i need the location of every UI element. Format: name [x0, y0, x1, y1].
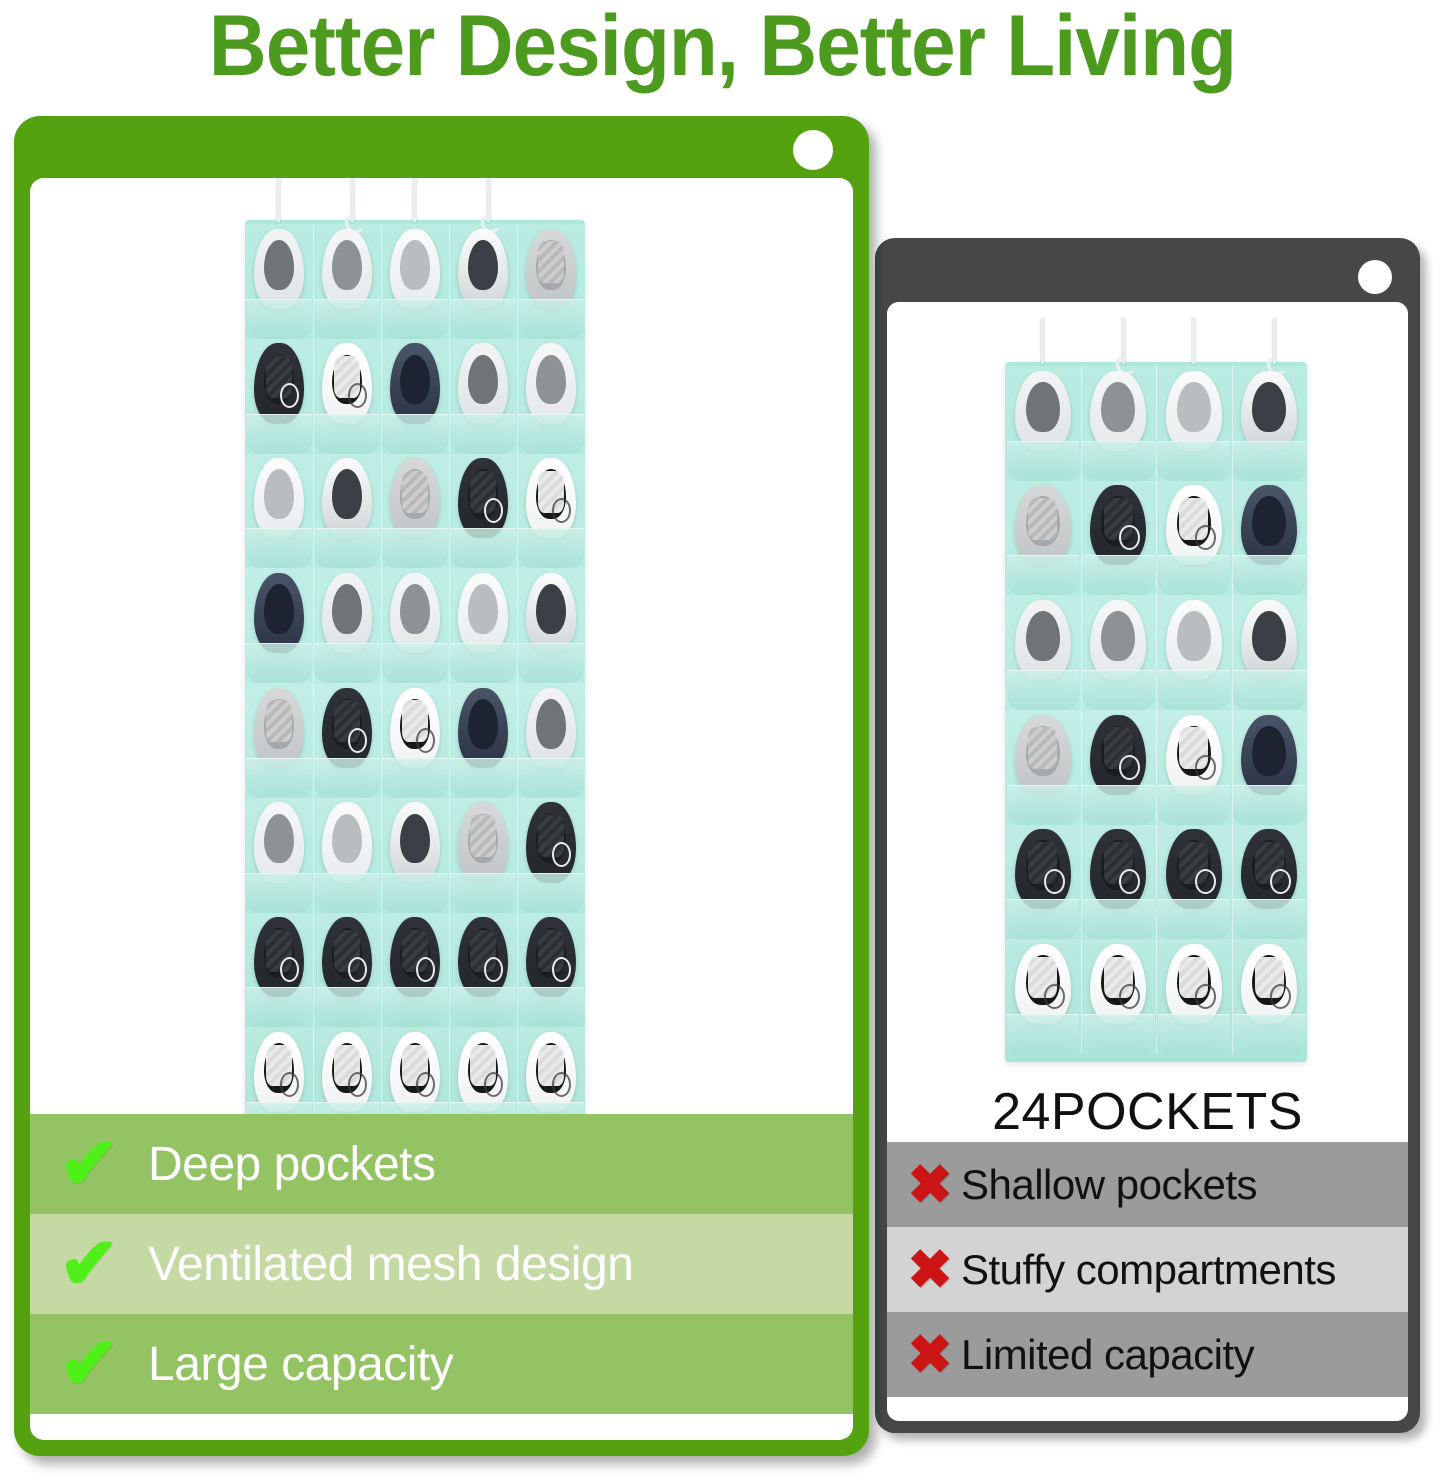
pocket-lip [518, 987, 583, 1027]
feature-row-limited-capacity: ✖ Limited capacity [887, 1312, 1408, 1397]
shoe-graphic [1015, 829, 1071, 909]
organizer-pocket [381, 224, 450, 339]
pocket-lip [518, 528, 583, 568]
shoe-graphic [458, 802, 508, 882]
organizer-pocket [1005, 481, 1082, 596]
pocket-lip [1233, 670, 1306, 710]
cartoon-face-decal-icon [1119, 869, 1140, 894]
pocket-lip [246, 528, 311, 568]
shoe-graphic [390, 343, 440, 423]
cartoon-face-decal-icon [1119, 525, 1140, 550]
shoe-graphic [1166, 371, 1222, 451]
slipper-sole-texture [1028, 498, 1057, 540]
feature-label: Large capacity [148, 1337, 453, 1392]
hanging-hook-icon [1192, 318, 1195, 364]
pocket-lip [246, 414, 311, 454]
pocket-lip [1082, 441, 1155, 481]
featured-product-card: 40 POCKETS ✔ Deep pockets ✔ Ventilated m… [14, 116, 869, 1456]
cartoon-face-decal-icon [1044, 984, 1065, 1009]
organizer-pocket [245, 798, 314, 913]
shoe-graphic [1090, 829, 1146, 909]
organizer-pocket [1081, 710, 1158, 825]
featured-card-body: 40 POCKETS ✔ Deep pockets ✔ Ventilated m… [30, 178, 853, 1440]
organizer-pocket [517, 913, 585, 1028]
organizer-pocket [1232, 939, 1308, 1054]
cartoon-face-decal-icon [552, 1072, 571, 1097]
pocket-lip [314, 987, 379, 1027]
pocket-lip [1007, 555, 1080, 595]
competitor-card-body: 24POCKETS ✖ Shallow pockets ✖ Stuffy com… [887, 302, 1408, 1421]
pocket-lip [382, 299, 447, 339]
pocket-lip [246, 299, 311, 339]
feature-label: Stuffy compartments [961, 1246, 1336, 1294]
shoe-graphic [526, 917, 576, 997]
cartoon-face-decal-icon [1044, 869, 1065, 894]
pocket-lip [382, 758, 447, 798]
organizer-pocket [1005, 366, 1082, 481]
shoe-graphic [322, 688, 372, 768]
shoe-collar [332, 469, 362, 519]
shoe-graphic [390, 1032, 440, 1112]
pocket-lip [382, 643, 447, 683]
shoe-graphic [254, 573, 304, 653]
competitor-feature-list: ✖ Shallow pockets ✖ Stuffy compartments … [887, 1142, 1408, 1397]
pocket-lip [518, 758, 583, 798]
feature-row-ventilated-mesh: ✔ Ventilated mesh design [30, 1214, 853, 1314]
slipper-sole-texture [1028, 727, 1057, 769]
competitor-pocket-count: 24POCKETS [887, 1082, 1408, 1144]
pocket-lip [518, 643, 583, 683]
pocket-lip [382, 528, 447, 568]
organizer-pocket [449, 224, 518, 339]
pocket-lip [1007, 1014, 1080, 1054]
shoe-collar [1252, 726, 1286, 776]
cartoon-face-decal-icon [348, 383, 367, 408]
shoe-graphic [254, 802, 304, 882]
pocket-lip [246, 643, 311, 683]
cross-icon: ✖ [893, 1243, 967, 1297]
cartoon-face-decal-icon [1195, 525, 1216, 550]
pocket-lip [246, 758, 311, 798]
organizer-pocket [1005, 710, 1082, 825]
cartoon-face-decal-icon [348, 1072, 367, 1097]
slipper-sole-texture [266, 700, 292, 742]
pocket-lip [314, 873, 379, 913]
shoe-collar [536, 699, 566, 749]
shoe-graphic [1241, 715, 1297, 795]
organizer-pocket [1232, 595, 1308, 710]
shoe-collar [332, 240, 362, 290]
shoe-collar [400, 355, 430, 405]
shoe-collar [332, 584, 362, 634]
shoe-graphic [254, 1032, 304, 1112]
organizer-pocket [449, 339, 518, 454]
shoe-graphic [458, 229, 508, 309]
cartoon-face-decal-icon [1195, 869, 1216, 894]
organizer-pocket [1232, 366, 1308, 481]
organizer-pocket [381, 913, 450, 1028]
shoe-graphic [1090, 944, 1146, 1024]
pocket-lip [1158, 1014, 1231, 1054]
shoe-graphic [322, 1032, 372, 1112]
check-icon: ✔ [30, 1128, 148, 1200]
cartoon-face-decal-icon [280, 383, 299, 408]
cartoon-face-decal-icon [1119, 984, 1140, 1009]
card-hole-icon [1358, 260, 1392, 294]
organizer-pocket [381, 568, 450, 683]
shoe-graphic [1166, 944, 1222, 1024]
pocket-lip [382, 414, 447, 454]
shoe-graphic [1015, 715, 1071, 795]
pocket-lip [518, 873, 583, 913]
organizer-pocket [313, 683, 382, 798]
organizer-pocket [245, 683, 314, 798]
shoe-collar [264, 469, 294, 519]
pocket-lip [450, 758, 515, 798]
pocket-lip [1082, 899, 1155, 939]
shoe-graphic [1166, 600, 1222, 680]
organizer-pocket [449, 913, 518, 1028]
pocket-lip [1082, 555, 1155, 595]
shoe-graphic [1241, 829, 1297, 909]
pocket-lip [1007, 899, 1080, 939]
shoe-graphic [1090, 371, 1146, 451]
organizer-pocket [245, 568, 314, 683]
organizer-pocket [313, 224, 382, 339]
cartoon-face-decal-icon [484, 498, 503, 523]
shoe-collar [332, 814, 362, 864]
pocket-lip [382, 987, 447, 1027]
shoe-graphic [526, 458, 576, 538]
pocket-lip [1158, 785, 1231, 825]
pocket-lip [518, 299, 583, 339]
shoe-graphic [526, 229, 576, 309]
pocket-lip [518, 414, 583, 454]
shoe-graphic [1241, 485, 1297, 565]
organizer-pocket [313, 454, 382, 569]
check-icon: ✔ [30, 1228, 148, 1300]
pocket-lip [1007, 785, 1080, 825]
shoe-graphic [390, 688, 440, 768]
cartoon-face-decal-icon [416, 728, 435, 753]
shoe-collar [264, 584, 294, 634]
shoe-graphic [1015, 485, 1071, 565]
organizer-pocket [381, 454, 450, 569]
pocket-lip [1007, 441, 1080, 481]
slipper-sole-texture [470, 815, 496, 857]
pocket-lip [1082, 670, 1155, 710]
cross-icon: ✖ [893, 1328, 967, 1382]
pocket-lip [314, 299, 379, 339]
feature-row-deep-pockets: ✔ Deep pockets [30, 1114, 853, 1214]
pocket-lip [450, 414, 515, 454]
shoe-graphic [1015, 600, 1071, 680]
shoe-graphic [1090, 715, 1146, 795]
organizer-pocket [1156, 595, 1233, 710]
card-hole-icon [793, 130, 833, 170]
shoe-collar [400, 814, 430, 864]
shoe-collar [264, 240, 294, 290]
feature-row-stuffy-compartments: ✖ Stuffy compartments [887, 1227, 1408, 1312]
shoe-collar [1252, 496, 1286, 546]
pocket-lip [314, 414, 379, 454]
slipper-sole-texture [402, 471, 428, 513]
shoe-graphic [322, 343, 372, 423]
shoe-graphic [390, 802, 440, 882]
shoe-graphic [322, 229, 372, 309]
organizer-pocket [1081, 595, 1158, 710]
shoe-collar [468, 699, 498, 749]
organizer-pocket [517, 568, 585, 683]
shoe-graphic [458, 688, 508, 768]
organizer-pocket [1005, 939, 1082, 1054]
pocket-lip [450, 299, 515, 339]
shoe-graphic [458, 573, 508, 653]
organizer-pocket [517, 683, 585, 798]
organizer-pocket [313, 568, 382, 683]
organizer-pocket [1081, 939, 1158, 1054]
organizer-pocket [517, 454, 585, 569]
shoe-collar [468, 355, 498, 405]
hanging-hook-icon [1041, 318, 1044, 364]
organizer-pocket [381, 683, 450, 798]
organizer-pocket [1232, 825, 1308, 940]
shoe-organizer-24 [1005, 362, 1307, 1062]
competitor-product-image [887, 302, 1408, 1107]
shoe-collar [536, 584, 566, 634]
organizer-pocket [517, 224, 585, 339]
pocket-lip [382, 873, 447, 913]
hanging-hook-icon [413, 178, 416, 222]
pocket-lip [1233, 555, 1306, 595]
slipper-sole-texture [538, 241, 564, 283]
shoe-graphic [526, 802, 576, 882]
pocket-lip [314, 758, 379, 798]
featured-feature-list: ✔ Deep pockets ✔ Ventilated mesh design … [30, 1114, 853, 1414]
shoe-collar [1026, 611, 1060, 661]
organizer-pocket [1156, 939, 1233, 1054]
organizer-pocket [381, 798, 450, 913]
shoe-graphic [254, 458, 304, 538]
shoe-graphic [254, 343, 304, 423]
shoe-collar [1101, 611, 1135, 661]
shoe-graphic [1166, 829, 1222, 909]
shoe-collar [1252, 382, 1286, 432]
shoe-collar [1101, 382, 1135, 432]
organizer-pocket [381, 339, 450, 454]
pocket-lip [314, 643, 379, 683]
cartoon-face-decal-icon [1119, 755, 1140, 780]
organizer-pocket [1156, 366, 1233, 481]
pocket-lip [1233, 1014, 1306, 1054]
shoe-graphic [390, 573, 440, 653]
feature-label: Limited capacity [961, 1331, 1254, 1379]
pocket-lip [450, 643, 515, 683]
shoe-graphic [390, 917, 440, 997]
cartoon-face-decal-icon [1270, 869, 1291, 894]
feature-label: Shallow pockets [961, 1161, 1257, 1209]
shoe-graphic [458, 343, 508, 423]
competitor-card: 24POCKETS ✖ Shallow pockets ✖ Stuffy com… [875, 238, 1420, 1433]
pocket-lip [1233, 899, 1306, 939]
shoe-collar [400, 240, 430, 290]
cartoon-face-decal-icon [1270, 984, 1291, 1009]
pocket-lip [1082, 1014, 1155, 1054]
pocket-lip [1158, 670, 1231, 710]
cartoon-face-decal-icon [484, 1072, 503, 1097]
page-title: Better Design, Better Living [51, 0, 1395, 96]
organizer-pocket [449, 798, 518, 913]
shoe-graphic [1166, 485, 1222, 565]
organizer-pocket [313, 913, 382, 1028]
organizer-pocket [1156, 710, 1233, 825]
organizer-pocket [1156, 825, 1233, 940]
shoe-graphic [1241, 600, 1297, 680]
cross-icon: ✖ [893, 1158, 967, 1212]
shoe-collar [468, 240, 498, 290]
organizer-pocket [517, 339, 585, 454]
cartoon-face-decal-icon [1195, 755, 1216, 780]
organizer-pocket [1081, 825, 1158, 940]
organizer-pocket [245, 339, 314, 454]
pocket-lip [314, 528, 379, 568]
organizer-pocket [449, 454, 518, 569]
shoe-graphic [458, 1032, 508, 1112]
shoe-collar [1177, 382, 1211, 432]
organizer-pocket [449, 568, 518, 683]
cartoon-face-decal-icon [416, 1072, 435, 1097]
organizer-pocket [1156, 481, 1233, 596]
feature-row-large-capacity: ✔ Large capacity [30, 1314, 853, 1414]
shoe-graphic [254, 917, 304, 997]
shoe-graphic [1166, 715, 1222, 795]
shoe-collar [1026, 382, 1060, 432]
organizer-pocket [1005, 825, 1082, 940]
hanging-hook-icon [277, 178, 280, 222]
shoe-graphic [1090, 485, 1146, 565]
shoe-collar [536, 355, 566, 405]
pocket-lip [1233, 785, 1306, 825]
organizer-pocket [245, 454, 314, 569]
organizer-pocket [1005, 595, 1082, 710]
pocket-lip [450, 987, 515, 1027]
pocket-lip [1158, 555, 1231, 595]
shoe-collar [400, 584, 430, 634]
cartoon-face-decal-icon [552, 957, 571, 982]
shoe-graphic [526, 573, 576, 653]
shoe-graphic [1241, 944, 1297, 1024]
cartoon-face-decal-icon [552, 498, 571, 523]
feature-row-shallow-pockets: ✖ Shallow pockets [887, 1142, 1408, 1227]
organizer-pocket [245, 913, 314, 1028]
organizer-pocket [1232, 710, 1308, 825]
shoe-graphic [526, 343, 576, 423]
shoe-collar [1252, 611, 1286, 661]
organizer-pocket [517, 798, 585, 913]
cartoon-face-decal-icon [552, 842, 571, 867]
shoe-graphic [1015, 371, 1071, 451]
shoe-collar [468, 584, 498, 634]
cartoon-face-decal-icon [348, 728, 367, 753]
shoe-graphic [322, 573, 372, 653]
pocket-lip [1158, 899, 1231, 939]
shoe-collar [1177, 611, 1211, 661]
cartoon-face-decal-icon [280, 1072, 299, 1097]
organizer-pocket [1081, 481, 1158, 596]
shoe-graphic [254, 688, 304, 768]
pocket-lip [450, 873, 515, 913]
cartoon-face-decal-icon [416, 957, 435, 982]
organizer-pocket [245, 224, 314, 339]
cartoon-face-decal-icon [280, 957, 299, 982]
feature-label: Ventilated mesh design [148, 1237, 633, 1292]
pocket-lip [1007, 670, 1080, 710]
organizer-pocket [1232, 481, 1308, 596]
check-icon: ✔ [30, 1328, 148, 1400]
organizer-pocket [1081, 366, 1158, 481]
shoe-graphic [322, 802, 372, 882]
shoe-graphic [458, 917, 508, 997]
cartoon-face-decal-icon [348, 957, 367, 982]
organizer-pocket [313, 339, 382, 454]
cartoon-face-decal-icon [484, 957, 503, 982]
pocket-lip [1082, 785, 1155, 825]
shoe-graphic [1015, 944, 1071, 1024]
shoe-graphic [526, 688, 576, 768]
cartoon-face-decal-icon [1195, 984, 1216, 1009]
pocket-lip [1233, 441, 1306, 481]
organizer-pocket [313, 798, 382, 913]
shoe-graphic [322, 917, 372, 997]
shoe-graphic [390, 229, 440, 309]
shoe-organizer-40 [245, 220, 585, 1150]
pocket-lip [246, 987, 311, 1027]
shoe-collar [264, 814, 294, 864]
shoe-graphic [254, 229, 304, 309]
featured-product-image [30, 178, 853, 1198]
pocket-lip [246, 873, 311, 913]
shoe-graphic [1090, 600, 1146, 680]
pocket-lip [450, 528, 515, 568]
shoe-graphic [1241, 371, 1297, 451]
feature-label: Deep pockets [148, 1137, 436, 1192]
pocket-lip [1158, 441, 1231, 481]
shoe-graphic [458, 458, 508, 538]
shoe-graphic [390, 458, 440, 538]
organizer-pocket [449, 683, 518, 798]
shoe-graphic [322, 458, 372, 538]
shoe-graphic [526, 1032, 576, 1112]
